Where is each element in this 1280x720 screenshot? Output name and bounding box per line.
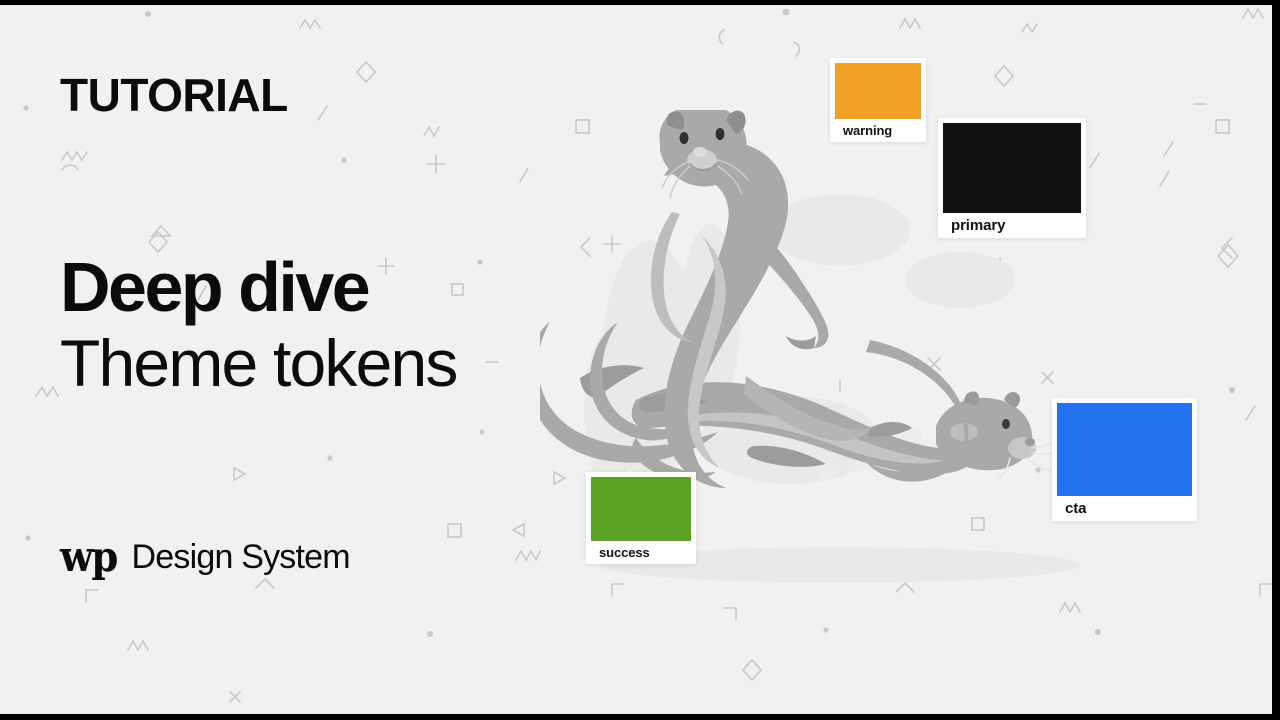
swatch-label-warning: warning	[835, 119, 921, 137]
swatch-label-success: success	[591, 541, 691, 559]
swatch-chip-cta	[1057, 403, 1192, 496]
swatch-chip-primary	[943, 123, 1081, 213]
swatch-label-primary: primary	[943, 213, 1081, 233]
color-token-primary: primary	[938, 118, 1086, 238]
eyebrow-label: TUTORIAL	[60, 72, 288, 118]
color-token-warning: warning	[830, 58, 926, 142]
letterbox-bar-top	[0, 0, 1280, 5]
headline-secondary: Theme tokens	[60, 330, 457, 396]
letterbox-bar-right	[1272, 0, 1280, 720]
swatch-label-cta: cta	[1057, 496, 1192, 516]
color-token-success: success	[586, 472, 696, 564]
letterbox-bar-bottom	[0, 714, 1280, 720]
tutorial-slide: TUTORIAL Deep dive Theme tokens wp Desig…	[0, 0, 1280, 720]
swatch-chip-warning	[835, 63, 921, 119]
swatch-chip-success	[591, 477, 691, 541]
page-title: Deep dive Theme tokens	[60, 252, 457, 396]
brand-name-label: Design System	[132, 540, 350, 574]
headline-primary: Deep dive	[60, 252, 457, 322]
washington-post-w-logo-icon: wp	[60, 536, 117, 578]
brand-lockup: wp Design System	[60, 536, 350, 578]
color-token-cta: cta	[1052, 398, 1197, 521]
